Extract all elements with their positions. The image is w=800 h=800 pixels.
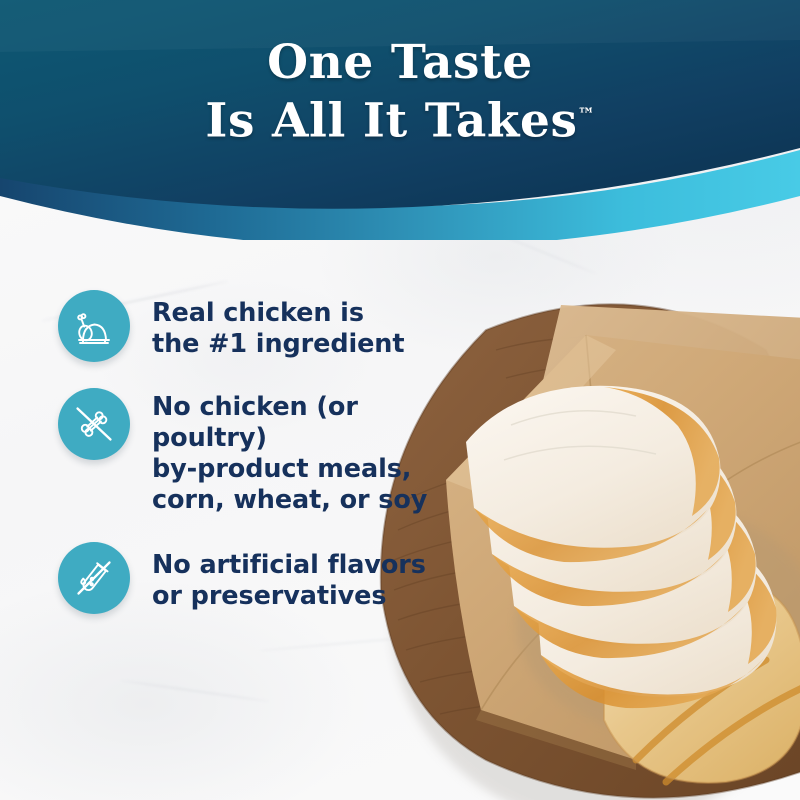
benefit-icon-badge xyxy=(58,290,130,362)
roast-chicken-platter-icon xyxy=(70,302,118,350)
header-band xyxy=(0,0,800,240)
no-bone-slash-icon xyxy=(70,400,118,448)
benefit-item-no-byproduct: No chicken (or poultry) by-product meals… xyxy=(58,386,478,516)
benefit-item-no-artificial: No artificial flavors or preservatives xyxy=(58,540,478,614)
benefit-text: Real chicken is the #1 ingredient xyxy=(152,288,404,360)
no-test-tube-slash-icon xyxy=(70,554,118,602)
benefit-icon-badge xyxy=(58,388,130,460)
marketing-poster: One Taste Is All It Takes™ xyxy=(0,0,800,800)
benefits-list: Real chicken is the #1 ingredient xyxy=(58,288,478,614)
benefit-icon-badge xyxy=(58,542,130,614)
benefit-text: No chicken (or poultry) by-product meals… xyxy=(152,386,478,516)
benefit-text: No artificial flavors or preservatives xyxy=(152,540,426,612)
benefit-item-real-chicken: Real chicken is the #1 ingredient xyxy=(58,288,478,362)
marble-vein xyxy=(121,680,270,703)
